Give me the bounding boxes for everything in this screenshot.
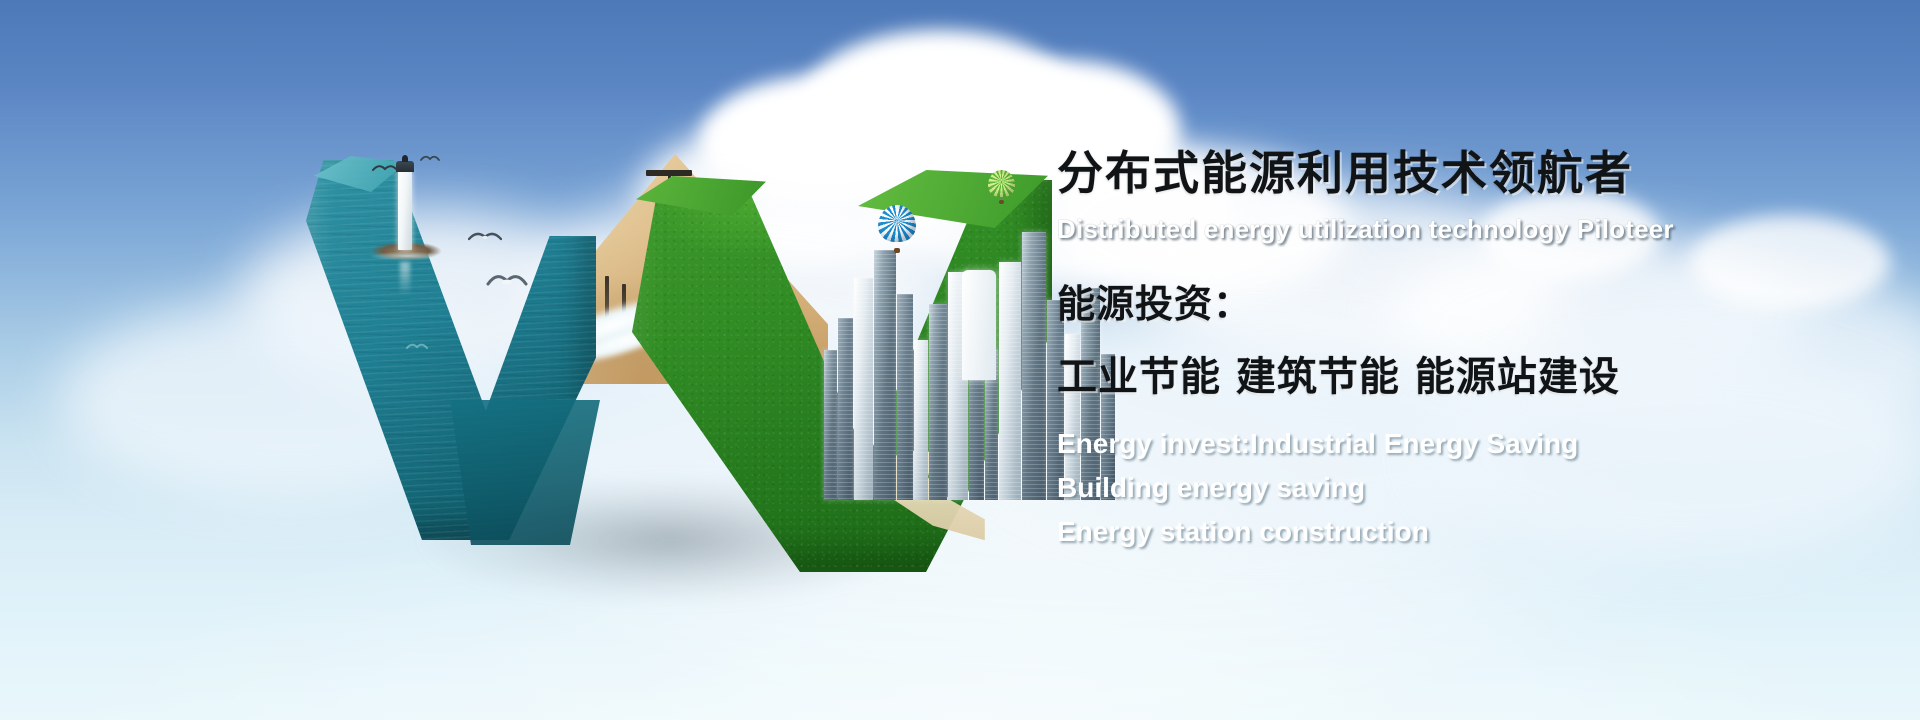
skyscraper-icon bbox=[897, 294, 913, 500]
skyscraper-icon bbox=[929, 304, 947, 500]
service-line-1: Energy invest:Industrial Energy Saving bbox=[1057, 428, 1877, 460]
hot-air-balloon-icon bbox=[878, 205, 916, 253]
skyscraper-icon bbox=[854, 278, 873, 500]
seagull-icon bbox=[468, 228, 502, 244]
lead-chinese: 能源投资： bbox=[1057, 273, 1877, 328]
hero-banner: 分布式能源利用技术领航者 Distributed energy utilizat… bbox=[0, 0, 1920, 720]
balloon-envelope bbox=[988, 170, 1015, 197]
skyscraper-icon bbox=[874, 250, 896, 500]
landscape-sculpture bbox=[300, 150, 1060, 580]
balloon-basket bbox=[999, 200, 1004, 204]
signpost-icon bbox=[646, 170, 692, 176]
service-items-chinese: 工业节能 建筑节能 能源站建设 bbox=[1057, 344, 1877, 402]
skyscraper-icon bbox=[824, 350, 837, 500]
hot-air-balloon-icon bbox=[988, 170, 1015, 204]
balloon-basket bbox=[894, 248, 901, 253]
lighthouse-icon bbox=[398, 170, 412, 250]
seagull-icon bbox=[372, 162, 398, 174]
skyscraper-icon bbox=[1022, 232, 1046, 500]
lighthouse-reflection bbox=[400, 262, 410, 296]
headline-english: Distributed energy utilization technolog… bbox=[1057, 214, 1877, 245]
white-tower bbox=[962, 270, 996, 380]
skyscraper-icon bbox=[838, 318, 853, 500]
seagull-icon bbox=[420, 153, 440, 163]
seagull-icon bbox=[406, 340, 428, 351]
service-line-2: Building energy saving bbox=[1057, 472, 1877, 504]
island-water-edge bbox=[356, 250, 458, 262]
lighthouse-cap bbox=[402, 155, 408, 162]
balloon-envelope bbox=[878, 205, 916, 242]
service-line-3: Energy station construction bbox=[1057, 516, 1877, 548]
skyscraper-icon bbox=[914, 340, 928, 500]
skyscraper-icon bbox=[999, 262, 1021, 500]
seagull-icon bbox=[486, 268, 528, 290]
hero-copy: 分布式能源利用技术领航者 Distributed energy utilizat… bbox=[1057, 150, 1877, 548]
headline-chinese: 分布式能源利用技术领航者 bbox=[1057, 150, 1877, 198]
lighthouse-lantern bbox=[396, 161, 414, 172]
